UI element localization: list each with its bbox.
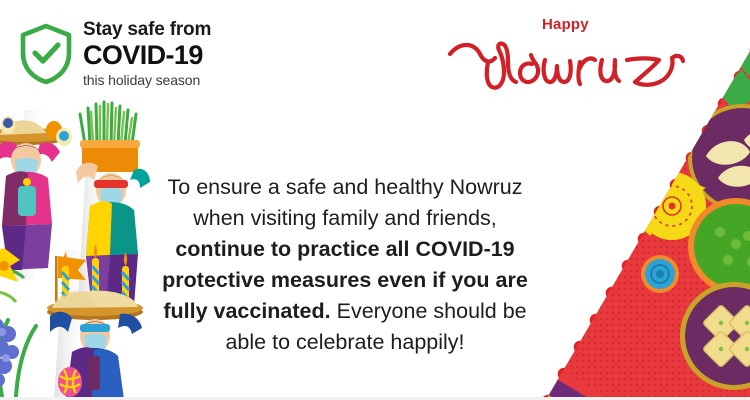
shield-check-icon bbox=[18, 23, 74, 85]
covid-logo-text: Stay safe from COVID-19 this holiday sea… bbox=[83, 20, 211, 87]
hyacinth-flower bbox=[0, 318, 36, 396]
message-part1: To ensure a safe and healthy Nowruz when… bbox=[168, 175, 523, 230]
covid-logo-line2: COVID-19 bbox=[83, 42, 211, 69]
figure-pink-with-tray bbox=[0, 116, 72, 270]
nowruz-covid-banner: Stay safe from COVID-19 this holiday sea… bbox=[0, 0, 750, 400]
painted-egg bbox=[58, 367, 82, 397]
blue-bowl bbox=[641, 255, 679, 293]
main-message: To ensure a safe and healthy Nowruz when… bbox=[150, 172, 540, 358]
covid-logo-line3: this holiday season bbox=[83, 73, 211, 87]
covid-safety-logo: Stay safe from COVID-19 this holiday sea… bbox=[18, 20, 211, 87]
covid-logo-line1: Stay safe from bbox=[83, 20, 211, 39]
haft-sin-sofreh-illustration bbox=[520, 40, 750, 400]
masked-celebrants-illustration bbox=[0, 100, 164, 400]
